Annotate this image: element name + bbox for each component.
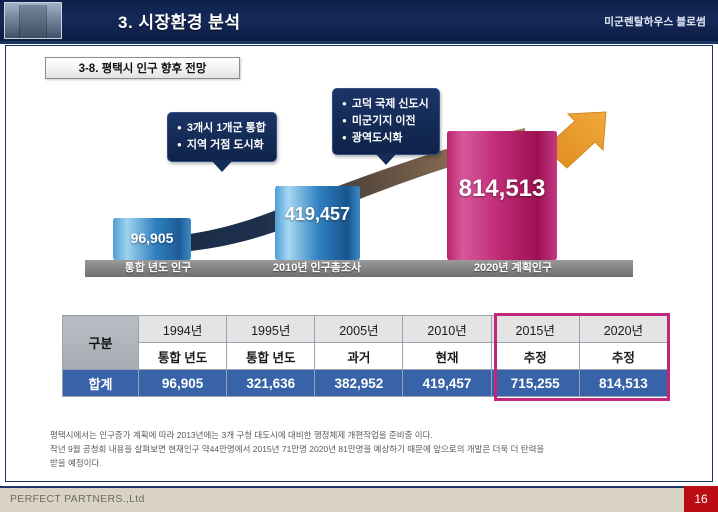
slide-canvas: 3. 시장환경 분석 미군렌탈하우스 블로썸 3-8. 평택시 인구 향후 전망 — [0, 0, 718, 512]
bar-value-2: 419,457 — [275, 204, 360, 225]
table-col-sub-2: 통합 년도 — [227, 343, 315, 370]
callout-left-item-1: 3개시 1개군 통합 — [177, 120, 266, 137]
callout-right-item-1: 고덕 국제 신도시 — [342, 96, 429, 113]
table-total-3: 382,952 — [315, 370, 403, 397]
population-table-wrapper: 구분 1994년 1995년 2005년 2010년 2015년 2020년 통… — [62, 315, 668, 417]
callout-right-item-3: 광역도시화 — [342, 130, 429, 147]
population-forecast-chart: 96,905 419,457 814,513 통합 년도 인구 2010년 인구… — [55, 88, 663, 278]
callout-left-tail — [211, 160, 233, 172]
table-col-year-4: 2010년 — [403, 316, 491, 343]
table-total-5: 715,255 — [491, 370, 579, 397]
table-row-total: 합계 96,905 321,636 382,952 419,457 715,25… — [63, 370, 668, 397]
callout-right-item-2: 미군기지 이전 — [342, 113, 429, 130]
chart-baseline: 통합 년도 인구 2010년 인구총조사 2020년 계획인구 — [85, 260, 633, 277]
header-divider — [0, 41, 718, 44]
table-total-1: 96,905 — [139, 370, 227, 397]
callout-right: 고덕 국제 신도시 미군기지 이전 광역도시화 — [332, 88, 440, 155]
table-row-years: 구분 1994년 1995년 2005년 2010년 2015년 2020년 — [63, 316, 668, 343]
bar-2020-plan: 814,513 — [447, 131, 557, 260]
section-title-badge: 3-8. 평택시 인구 향후 전망 — [45, 57, 240, 79]
table-col-sub-6: 추정 — [579, 343, 667, 370]
table-total-4: 419,457 — [403, 370, 491, 397]
table-col-year-1: 1994년 — [139, 316, 227, 343]
bar-caption-1: 통합 년도 인구 — [93, 260, 223, 276]
bar-caption-2: 2010년 인구총조사 — [237, 260, 397, 276]
callout-left: 3개시 1개군 통합 지역 거점 도시화 — [167, 112, 277, 162]
footnote-line-2: 작년 9월 공청회 내용을 살펴보면 현재인구 약44만명에서 2015년 71… — [50, 442, 690, 456]
page-number-badge: 16 — [684, 486, 718, 512]
footnote-line-3: 받을 예정이다. — [50, 456, 690, 470]
callout-left-item-2: 지역 거점 도시화 — [177, 137, 266, 154]
page-title: 3. 시장환경 분석 — [118, 8, 240, 33]
table-total-2: 321,636 — [227, 370, 315, 397]
table-col-year-2: 1995년 — [227, 316, 315, 343]
building-photo-icon — [4, 2, 62, 39]
table-col-sub-1: 통합 년도 — [139, 343, 227, 370]
table-col-sub-5: 추정 — [491, 343, 579, 370]
footnote-line-1: 평택시에서는 인구증가 계획에 따라 2013년에는 3개 구청 대도시에 대비… — [50, 428, 690, 442]
population-table: 구분 1994년 1995년 2005년 2010년 2015년 2020년 통… — [62, 315, 668, 397]
bar-caption-3: 2020년 계획인구 — [433, 260, 593, 276]
table-col-year-5: 2015년 — [491, 316, 579, 343]
table-header-gubun: 구분 — [63, 316, 139, 370]
bar-value-1: 96,905 — [113, 230, 191, 246]
footnote-text: 평택시에서는 인구증가 계획에 따라 2013년에는 3개 구청 대도시에 대비… — [50, 428, 690, 470]
brand-label: 미군렌탈하우스 블로썸 — [604, 14, 706, 29]
table-col-sub-4: 현재 — [403, 343, 491, 370]
table-col-year-6: 2020년 — [579, 316, 667, 343]
bar-value-3: 814,513 — [447, 175, 557, 203]
bar-1994-integration: 96,905 — [113, 218, 191, 260]
table-row-subheads: 통합 년도 통합 년도 과거 현재 추정 추정 — [63, 343, 668, 370]
table-total-label: 합계 — [63, 370, 139, 397]
bar-2010-census: 419,457 — [275, 186, 360, 260]
table-total-6: 814,513 — [579, 370, 667, 397]
table-col-year-3: 2005년 — [315, 316, 403, 343]
footer-company-label: PERFECT PARTNERS.,Ltd — [10, 493, 145, 505]
table-col-sub-3: 과거 — [315, 343, 403, 370]
callout-right-tail — [375, 153, 397, 165]
slide-header: 3. 시장환경 분석 미군렌탈하우스 블로썸 — [0, 0, 718, 41]
